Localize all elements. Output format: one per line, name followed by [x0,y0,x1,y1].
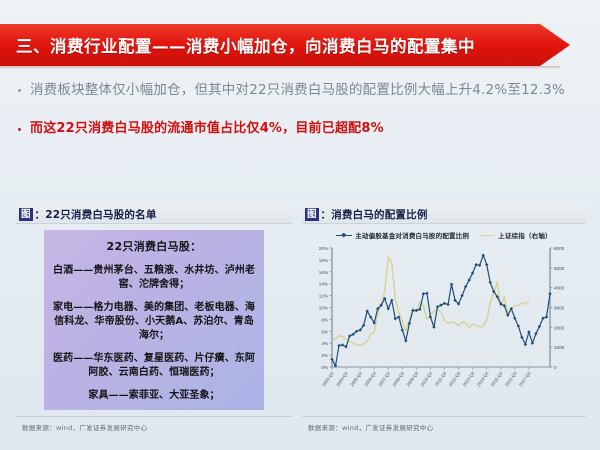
svg-text:2003-Q3: 2003-Q3 [321,370,335,387]
svg-text:2017-Q3: 2017-Q3 [518,370,532,387]
bullet-list: 消费板块整体仅小幅加仓，但其中对22只消费白马股的配置比例大幅上升4.2%至12… [18,80,584,142]
left-panel-title: 22只消费白马股的名单 [45,207,156,222]
figure-tag-icon: 图 [305,208,319,221]
svg-text:4%: 4% [321,341,328,346]
svg-text:10%: 10% [319,306,328,311]
stock-list-title: 22只消费白马股： [106,238,201,254]
svg-text:2009-Q3: 2009-Q3 [406,370,420,387]
right-panel: 图 ： 消费白马的配置比例 主动偏股基金对消费白马股的配置比例 上证综指（右轴）… [302,205,586,437]
slide: 三、消费行业配置——消费小幅加仓，向消费白马的配置集中 消费板块整体仅小幅加仓，… [0,0,600,450]
svg-text:1000: 1000 [554,345,565,350]
svg-text:2010-Q3: 2010-Q3 [420,370,434,387]
svg-text:2015-Q3: 2015-Q3 [490,370,504,387]
svg-text:2016-Q3: 2016-Q3 [504,370,518,387]
svg-text:0%: 0% [321,365,328,370]
svg-text:6000: 6000 [554,246,565,251]
right-panel-footer: 数据来源：wind，广发证券发展研究中心 [302,416,586,437]
svg-text:2%: 2% [321,353,328,358]
left-panel-title-sep: ： [35,207,46,222]
svg-text:0: 0 [554,365,557,370]
legend-entry-allocation: 主动偏股基金对消费白马股的配置比例 [336,230,469,240]
left-panel-body: 22只消费白马股： 白酒——贵州茅台、五粮液、水井坊、泸州老窖、沱牌舍得； 家电… [16,224,292,416]
svg-text:2004-Q3: 2004-Q3 [335,370,349,387]
page-title: 三、消费行业配置——消费小幅加仓，向消费白马的配置集中 [0,33,475,57]
svg-text:8%: 8% [321,317,328,322]
svg-text:2013-Q3: 2013-Q3 [462,370,476,387]
svg-text:2012-Q3: 2012-Q3 [448,370,462,387]
title-banner: 三、消费行业配置——消费小幅加仓，向消费白马的配置集中 [0,24,600,66]
banner-shadow [0,66,560,69]
chart-svg: 0%2%4%6%8%10%12%14%16%18%20%010002000300… [302,240,584,405]
svg-text:2011-Q3: 2011-Q3 [434,370,448,387]
svg-text:2014-Q3: 2014-Q3 [476,370,490,387]
svg-text:2005-Q3: 2005-Q3 [349,370,363,387]
right-source-note: 数据来源：wind，广发证券发展研究中心 [302,422,433,432]
bullet-text-2: 而这22只消费白马股的流通市值占比仅4%，目前已超配8% [30,119,384,138]
svg-text:5000: 5000 [554,266,565,271]
svg-text:6%: 6% [321,329,328,334]
bullet-item-1: 消费板块整体仅小幅加仓，但其中对22只消费白马股的配置比例大幅上升4.2%至12… [18,80,584,100]
svg-text:16%: 16% [319,270,328,275]
bullet-item-2: 而这22只消费白马股的流通市值占比仅4%，目前已超配8% [18,119,584,138]
right-panel-title-sep: ： [321,207,332,222]
svg-text:4000: 4000 [554,286,565,291]
legend-label-allocation: 主动偏股基金对消费白马股的配置比例 [355,230,469,240]
svg-text:20%: 20% [319,246,328,251]
legend-line-icon [479,232,495,238]
left-panel-header: 图 ： 22只消费白马股的名单 [16,205,292,224]
left-panel: 图 ： 22只消费白马股的名单 22只消费白马股： 白酒——贵州茅台、五粮液、水… [16,205,292,437]
right-panel-header: 图 ： 消费白马的配置比例 [302,205,586,224]
svg-text:18%: 18% [319,258,328,263]
chart-plot: 0%2%4%6%8%10%12%14%16%18%20%010002000300… [302,240,584,405]
stock-list-box: 22只消费白马股： 白酒——贵州茅台、五粮液、水井坊、泸州老窖、沱牌舍得； 家电… [44,230,264,410]
list-item: 白酒——贵州茅台、五粮液、水井坊、泸州老窖、沱牌舍得； [51,264,257,292]
svg-text:2007-Q3: 2007-Q3 [377,370,391,387]
right-panel-title: 消费白马的配置比例 [331,207,427,222]
svg-text:3000: 3000 [554,306,565,311]
bullet-dot-icon [18,128,21,131]
legend-line-marker-icon [336,232,352,238]
left-source-note: 数据来源：wind，广发证券发展研究中心 [16,422,147,432]
legend-label-index: 上证综指（右轴） [498,230,552,240]
svg-text:12%: 12% [319,294,328,299]
banner-arrow-shape: 三、消费行业配置——消费小幅加仓，向消费白马的配置集中 [0,24,570,66]
legend-entry-index: 上证综指（右轴） [479,230,552,240]
bullet-text-1: 消费板块整体仅小幅加仓，但其中对22只消费白马股的配置比例大幅上升4.2%至12… [30,80,565,100]
svg-text:2006-Q3: 2006-Q3 [363,370,377,387]
bullet-dot-icon [18,89,21,92]
list-item: 家电——格力电器、美的集团、老板电器、海信科龙、华帝股份、小天鹅A、苏泊尔、青岛… [51,301,257,343]
right-panel-body: 主动偏股基金对消费白马股的配置比例 上证综指（右轴） 0%2%4%6%8%10%… [302,224,586,416]
svg-text:2008-Q3: 2008-Q3 [391,370,405,387]
list-item: 医药——华东医药、复星医药、片仔癀、东阿阿胶、云南白药、恒瑞医药； [51,352,257,380]
chart-legend: 主动偏股基金对消费白马股的配置比例 上证综指（右轴） [302,224,586,240]
list-item: 家具——索菲亚、大亚圣象； [51,389,257,403]
svg-text:2000: 2000 [554,325,565,330]
figure-tag-icon: 图 [19,208,33,221]
svg-text:14%: 14% [319,282,328,287]
left-panel-footer: 数据来源：wind，广发证券发展研究中心 [16,416,292,437]
